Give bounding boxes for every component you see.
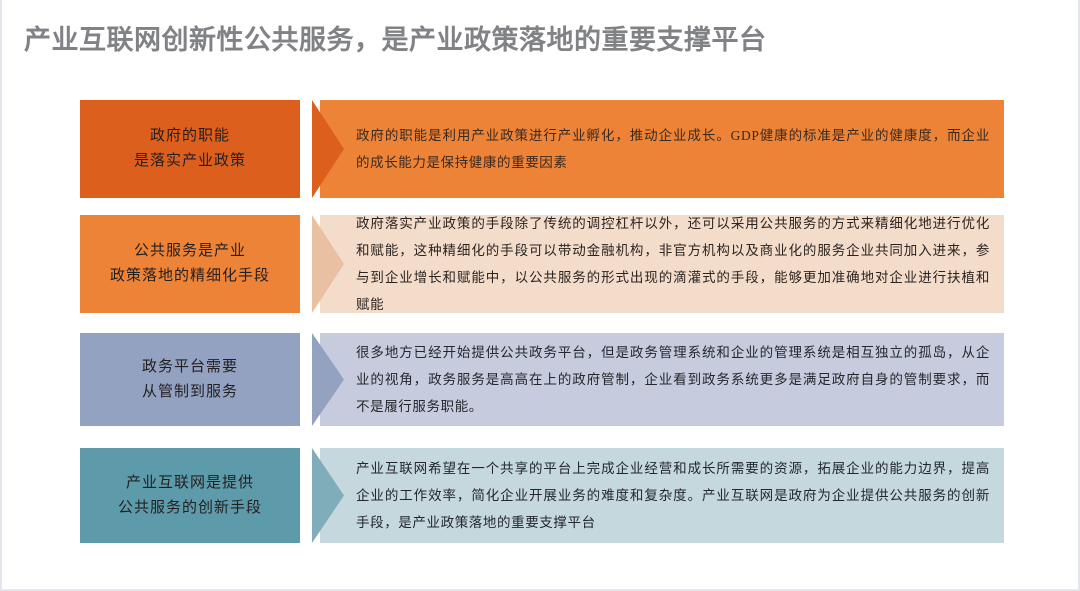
content-row: 政府的职能 是落实产业政策 政府的职能是利用产业政策进行产业孵化，推动企业成长。… — [80, 100, 1004, 198]
content-row: 公共服务是产业 政策落地的精细化手段 政府落实产业政策的手段除了传统的调控杠杆以… — [80, 215, 1004, 313]
row-label-line: 政策落地的精细化手段 — [110, 264, 270, 289]
slide-canvas: 产业互联网创新性公共服务，是产业政策落地的重要支撑平台 政府的职能 是落实产业政… — [0, 0, 1080, 591]
page-title: 产业互联网创新性公共服务，是产业政策落地的重要支撑平台 — [24, 18, 767, 57]
row-label-line: 政府的职能 — [150, 124, 230, 149]
row-content-text: 很多地方已经开始提供公共政务平台，但是政务管理系统和企业的管理系统是相互独立的孤… — [320, 339, 1004, 420]
row-content-text: 政府的职能是利用产业政策进行产业孵化，推动企业成长。GDP健康的标准是产业的健康… — [320, 122, 1004, 176]
row-label-block[interactable]: 公共服务是产业 政策落地的精细化手段 — [80, 215, 300, 313]
row-content-text: 产业互联网希望在一个共享的平台上完成企业经营和成长所需要的资源，拓展企业的能力边… — [320, 455, 1004, 536]
row-label-block[interactable]: 政府的职能 是落实产业政策 — [80, 100, 300, 198]
row-content-block[interactable]: 政府落实产业政策的手段除了传统的调控杠杆以外，还可以采用公共服务的方式来精细化地… — [320, 215, 1004, 313]
arrow-right-icon — [312, 448, 370, 543]
arrow-right-icon — [312, 100, 370, 198]
row-label-line: 从管制到服务 — [142, 380, 238, 405]
row-content-text: 政府落实产业政策的手段除了传统的调控杠杆以外，还可以采用公共服务的方式来精细化地… — [320, 210, 1004, 318]
row-content-block[interactable]: 很多地方已经开始提供公共政务平台，但是政务管理系统和企业的管理系统是相互独立的孤… — [320, 333, 1004, 426]
content-row: 产业互联网是提供 公共服务的创新手段 产业互联网希望在一个共享的平台上完成企业经… — [80, 448, 1004, 543]
row-label-line: 公共服务的创新手段 — [118, 496, 262, 521]
row-content-block[interactable]: 产业互联网希望在一个共享的平台上完成企业经营和成长所需要的资源，拓展企业的能力边… — [320, 448, 1004, 543]
row-label-line: 政务平台需要 — [142, 355, 238, 380]
row-label-block[interactable]: 产业互联网是提供 公共服务的创新手段 — [80, 448, 300, 543]
row-label-line: 是落实产业政策 — [134, 149, 246, 174]
row-label-line: 产业互联网是提供 — [126, 471, 254, 496]
row-label-block[interactable]: 政务平台需要 从管制到服务 — [80, 333, 300, 426]
content-row: 政务平台需要 从管制到服务 很多地方已经开始提供公共政务平台，但是政务管理系统和… — [80, 333, 1004, 426]
arrow-right-icon — [312, 215, 370, 313]
arrow-right-icon — [312, 333, 370, 426]
title-bar: 产业互联网创新性公共服务，是产业政策落地的重要支撑平台 — [2, 0, 1080, 72]
row-label-line: 公共服务是产业 — [134, 239, 246, 264]
row-content-block[interactable]: 政府的职能是利用产业政策进行产业孵化，推动企业成长。GDP健康的标准是产业的健康… — [320, 100, 1004, 198]
